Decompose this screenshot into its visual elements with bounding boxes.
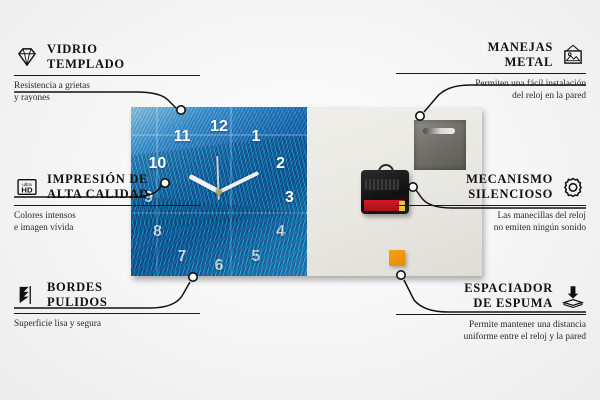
callout-title-line2: PULIDOS bbox=[47, 295, 107, 309]
callout-description: Colores intensos e imagen vívida bbox=[14, 210, 200, 235]
numeral-11: 11 bbox=[174, 129, 191, 145]
callout-title-line2: TEMPLADO bbox=[47, 57, 125, 71]
callout-description: Resistencia a grietas y rayones bbox=[14, 80, 200, 105]
callout-rule bbox=[396, 73, 586, 74]
hanger-slot bbox=[423, 128, 455, 134]
callout-description: Permiten una fácil instalación del reloj… bbox=[396, 78, 586, 103]
arrow-down-layers-icon bbox=[560, 283, 586, 309]
callout-description: Superficie lisa y segura bbox=[14, 318, 200, 331]
wall-frame-icon bbox=[560, 42, 586, 68]
metal-hanger-plate bbox=[414, 120, 466, 170]
callout-rule bbox=[14, 313, 200, 314]
callout-impresion-alta-calidad[interactable]: ultra HD IMPRESIÓN DE ALTA CALIDAD Color… bbox=[14, 172, 200, 235]
ultra-hd-icon: ultra HD bbox=[14, 174, 40, 200]
callout-title-line1: MANEJAS bbox=[488, 40, 553, 54]
numeral-12: 12 bbox=[210, 119, 228, 135]
mechanism-band bbox=[365, 179, 399, 190]
callout-rule bbox=[396, 314, 586, 315]
callout-description: Las manecillas del reloj no emiten ningú… bbox=[396, 210, 586, 235]
callout-title-line1: IMPRESIÓN DE bbox=[47, 172, 148, 186]
callout-rule bbox=[14, 205, 200, 206]
infographic-canvas: 12 1 2 3 4 5 6 7 8 9 10 11 bbox=[0, 0, 600, 400]
numeral-7: 7 bbox=[178, 249, 187, 265]
callout-title-line2: SILENCIOSO bbox=[468, 187, 553, 201]
foam-spacer bbox=[389, 250, 405, 266]
polished-edges-icon bbox=[14, 282, 40, 308]
clock-pivot bbox=[216, 189, 222, 195]
callout-bordes-pulidos[interactable]: BORDES PULIDOS Superficie lisa y segura bbox=[14, 280, 200, 330]
numeral-2: 2 bbox=[276, 156, 285, 172]
numeral-3: 3 bbox=[285, 190, 294, 206]
callout-title-line1: ESPACIADOR bbox=[464, 281, 553, 295]
callout-title-line2: DE ESPUMA bbox=[473, 296, 553, 310]
numeral-4: 4 bbox=[276, 224, 285, 240]
callout-title-line1: BORDES bbox=[47, 280, 103, 294]
callout-title-line1: MECANISMO bbox=[466, 172, 553, 186]
callout-description: Permite mantener una distancia uniforme … bbox=[396, 319, 586, 344]
mechanism-hook bbox=[378, 164, 394, 173]
callout-title-line1: VIDRIO bbox=[47, 42, 98, 56]
numeral-6: 6 bbox=[215, 258, 224, 274]
gear-icon bbox=[560, 174, 586, 200]
callout-rule bbox=[14, 75, 200, 76]
numeral-1: 1 bbox=[252, 129, 261, 145]
svg-text:HD: HD bbox=[21, 185, 33, 194]
callout-mecanismo-silencioso[interactable]: MECANISMO SILENCIOSO Las manecillas del … bbox=[396, 172, 586, 235]
numeral-5: 5 bbox=[252, 249, 261, 265]
callout-vidrio-templado[interactable]: VIDRIO TEMPLADO Resistencia a grietas y … bbox=[14, 42, 200, 105]
callout-title-line2: METAL bbox=[505, 55, 553, 69]
callout-title-line2: ALTA CALIDAD bbox=[47, 187, 149, 201]
diamond-icon bbox=[14, 44, 40, 70]
numeral-10: 10 bbox=[148, 156, 166, 172]
callout-espaciador-de-espuma[interactable]: ESPACIADOR DE ESPUMA Permite mantener un… bbox=[396, 281, 586, 344]
callout-rule bbox=[396, 205, 586, 206]
callout-manejas-metal[interactable]: MANEJAS METAL Permiten una fácil instala… bbox=[396, 40, 586, 103]
